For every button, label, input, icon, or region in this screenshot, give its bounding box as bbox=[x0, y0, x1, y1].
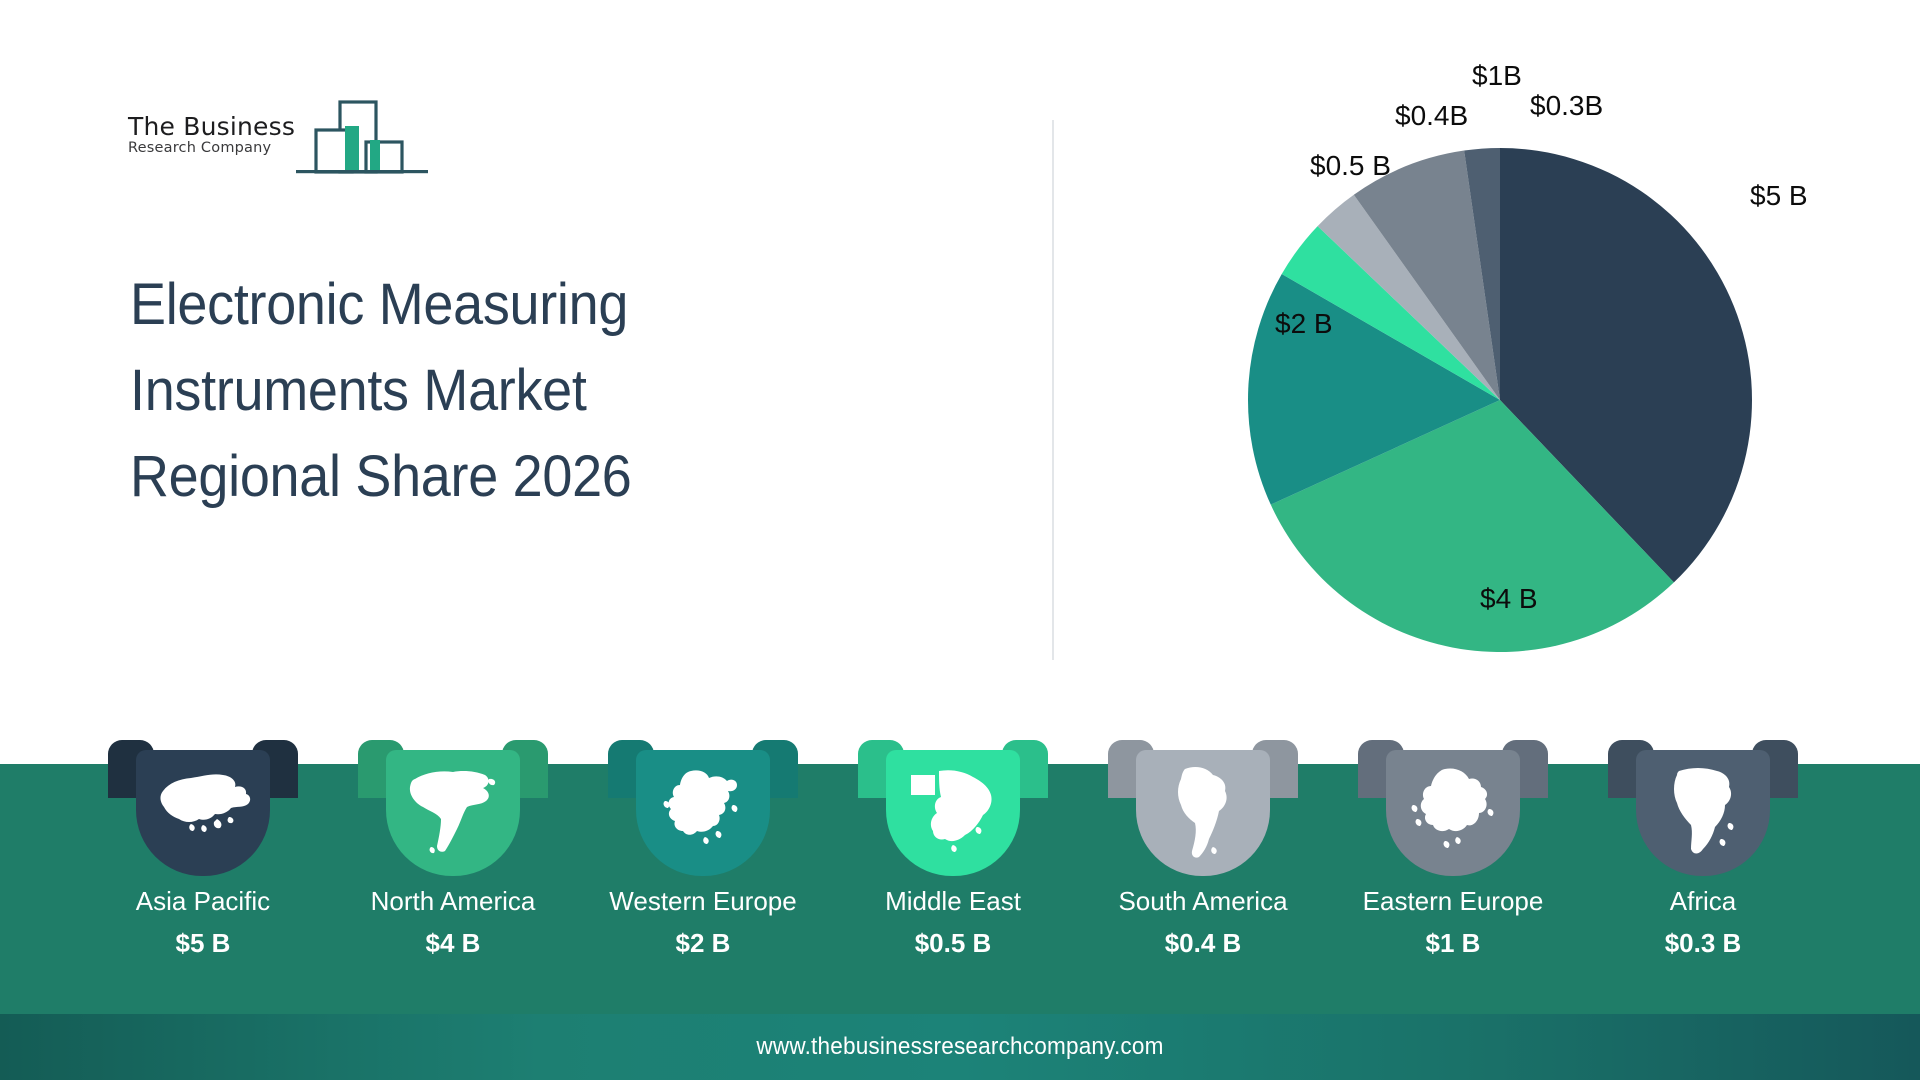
bar-chart-logo-icon bbox=[296, 96, 428, 188]
region-badge-western-europe[interactable] bbox=[608, 740, 798, 876]
logo-wordmark: The Business Research Company bbox=[128, 114, 306, 156]
company-logo: The Business Research Company bbox=[128, 104, 428, 188]
region-name-asia-pacific: Asia Pacific bbox=[68, 886, 338, 917]
region-value-western-europe: $2 B bbox=[568, 928, 838, 959]
pie-label-eastern-europe: $1B bbox=[1472, 60, 1522, 92]
badge-ribbon[interactable] bbox=[1386, 750, 1520, 876]
logo-line-2: Research Company bbox=[128, 141, 306, 156]
south-america-map-icon bbox=[1151, 761, 1255, 865]
region-card-asia-pacific[interactable]: Asia Pacific$5 B bbox=[108, 740, 298, 876]
pie-label-south-america: $0.4B bbox=[1395, 100, 1468, 132]
badge-ribbon[interactable] bbox=[136, 750, 270, 876]
badge-ribbon[interactable] bbox=[636, 750, 770, 876]
region-name-western-europe: Western Europe bbox=[568, 886, 838, 917]
region-card-western-europe[interactable]: Western Europe$2 B bbox=[608, 740, 798, 876]
pie-label-north-america: $4 B bbox=[1480, 583, 1538, 615]
region-value-eastern-europe: $1 B bbox=[1318, 928, 1588, 959]
region-value-south-america: $0.4 B bbox=[1068, 928, 1338, 959]
region-name-eastern-europe: Eastern Europe bbox=[1318, 886, 1588, 917]
eastern-europe-map-icon bbox=[1401, 761, 1505, 865]
region-value-africa: $0.3 B bbox=[1568, 928, 1838, 959]
region-badge-row: Asia Pacific$5 BNorth America$4 BWestern… bbox=[0, 740, 1920, 1020]
title-line-2: Instruments Market bbox=[130, 348, 818, 434]
region-value-middle-east: $0.5 B bbox=[818, 928, 1088, 959]
north-america-map-icon bbox=[401, 761, 505, 865]
badge-ribbon[interactable] bbox=[1636, 750, 1770, 876]
title-line-1: Electronic Measuring bbox=[130, 262, 818, 348]
middle-east-map-icon bbox=[901, 761, 1005, 865]
badge-ribbon[interactable] bbox=[386, 750, 520, 876]
region-badge-eastern-europe[interactable] bbox=[1358, 740, 1548, 876]
infographic-canvas: The Business Research Company Electronic… bbox=[0, 0, 1920, 1080]
region-card-middle-east[interactable]: Middle East$0.5 B bbox=[858, 740, 1048, 876]
region-name-south-america: South America bbox=[1068, 886, 1338, 917]
region-card-south-america[interactable]: South America$0.4 B bbox=[1108, 740, 1298, 876]
pie-label-asia-pacific: $5 B bbox=[1750, 180, 1808, 212]
region-badge-south-america[interactable] bbox=[1108, 740, 1298, 876]
page-title: Electronic Measuring Instruments Market … bbox=[130, 262, 818, 519]
title-line-3: Regional Share 2026 bbox=[130, 434, 818, 520]
region-badge-north-america[interactable] bbox=[358, 740, 548, 876]
badge-ribbon[interactable] bbox=[1136, 750, 1270, 876]
region-name-africa: Africa bbox=[1568, 886, 1838, 917]
region-badge-asia-pacific[interactable] bbox=[108, 740, 298, 876]
regional-share-pie-chart: $5 B$4 B$2 B$0.5 B$0.4B$1B$0.3B bbox=[1090, 40, 1890, 660]
africa-map-icon bbox=[1651, 761, 1755, 865]
region-badge-africa[interactable] bbox=[1608, 740, 1798, 876]
logo-line-1: The Business bbox=[128, 114, 306, 140]
asia-pacific-map-icon bbox=[151, 761, 255, 865]
western-europe-map-icon bbox=[651, 761, 755, 865]
pie-label-middle-east: $0.5 B bbox=[1310, 150, 1391, 182]
pie-label-africa: $0.3B bbox=[1530, 90, 1603, 122]
region-name-north-america: North America bbox=[318, 886, 588, 917]
region-badge-middle-east[interactable] bbox=[858, 740, 1048, 876]
region-card-africa[interactable]: Africa$0.3 B bbox=[1608, 740, 1798, 876]
vertical-divider bbox=[1052, 120, 1054, 660]
region-value-north-america: $4 B bbox=[318, 928, 588, 959]
footer-website-url[interactable]: www.thebusinessresearchcompany.com bbox=[58, 1014, 1863, 1080]
badge-ribbon[interactable] bbox=[886, 750, 1020, 876]
pie-label-western-europe: $2 B bbox=[1275, 308, 1333, 340]
region-name-middle-east: Middle East bbox=[818, 886, 1088, 917]
region-card-north-america[interactable]: North America$4 B bbox=[358, 740, 548, 876]
region-card-eastern-europe[interactable]: Eastern Europe$1 B bbox=[1358, 740, 1548, 876]
region-value-asia-pacific: $5 B bbox=[68, 928, 338, 959]
